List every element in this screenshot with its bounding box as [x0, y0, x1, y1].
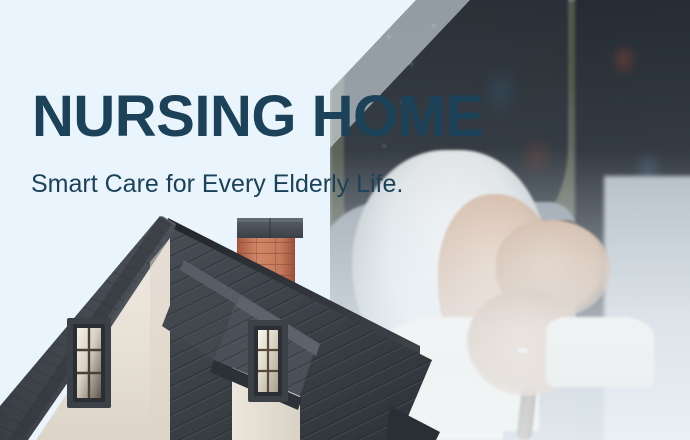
- house-chimney: [237, 218, 303, 314]
- elderly-woman-photo: [330, 0, 690, 440]
- banner-title: NURSING HOME: [32, 88, 484, 146]
- photo-walking-cane: [517, 220, 555, 440]
- photo-white-shirt: [409, 238, 503, 440]
- photo-upper-hand: [496, 220, 611, 317]
- photo-face: [438, 194, 560, 370]
- house-main-roof: [96, 216, 432, 440]
- house-gable-window: [67, 318, 111, 408]
- photo-cane-handle: [553, 220, 579, 235]
- house-dormer-window: [248, 320, 288, 402]
- photo-eye: [503, 255, 519, 262]
- photo-lower-hand: [467, 290, 582, 396]
- house-right-eave: [386, 406, 440, 440]
- photo-grey-coat: [330, 202, 575, 440]
- diagonal-wedge-soft-edge: [0, 0, 690, 440]
- nursing-home-banner: NURSING HOME Smart Care for Every Elderl…: [0, 0, 690, 440]
- photo-collar: [373, 317, 539, 431]
- banner-subtitle: Smart Care for Every Elderly Life.: [31, 172, 403, 197]
- photo-background-right: [604, 176, 690, 440]
- photo-sleeve-cuff: [546, 317, 654, 387]
- house-left-roof: [0, 216, 176, 440]
- house-gable-wall: [36, 238, 170, 440]
- diagonal-wedge-overlay: [0, 0, 690, 440]
- photo-white-wash: [330, 0, 690, 440]
- house-dormer: [162, 260, 320, 440]
- photo-wedding-ring: [517, 348, 528, 353]
- photo-patterned-coat-right: [575, 0, 690, 334]
- house-illustration: [0, 210, 480, 440]
